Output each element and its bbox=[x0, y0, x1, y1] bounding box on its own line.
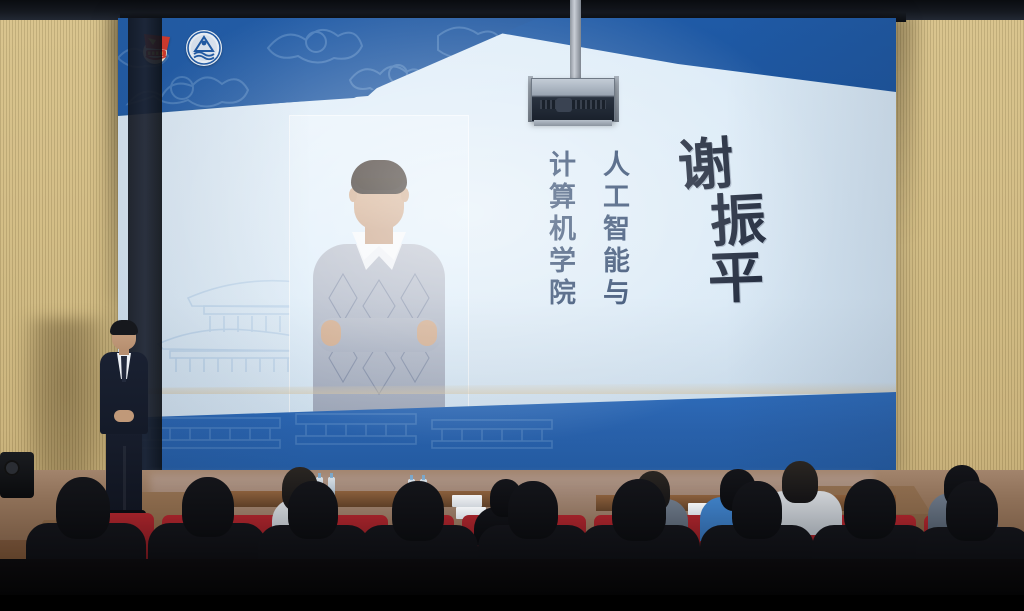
university-emblem-icon bbox=[186, 30, 222, 66]
projection-screen: 谢 振 平 人工智能与 计算机学院 bbox=[118, 18, 896, 480]
audience-head bbox=[288, 481, 338, 539]
speaker-portrait bbox=[290, 116, 468, 416]
presenter-hands bbox=[114, 410, 134, 422]
audience-head bbox=[844, 479, 896, 539]
presenter-tie bbox=[121, 356, 127, 382]
audience-head bbox=[508, 481, 558, 539]
auditorium-scene: 谢 振 平 人工智能与 计算机学院 bbox=[0, 0, 1024, 611]
projector-base-plate bbox=[534, 120, 612, 126]
speaker-name-calligraphy: 谢 振 平 bbox=[664, 136, 768, 307]
portrait-hair bbox=[351, 160, 407, 194]
portrait-hand-left bbox=[321, 320, 341, 346]
audience-head bbox=[946, 481, 998, 541]
audience-area bbox=[0, 461, 1024, 611]
letterbox-bottom bbox=[0, 595, 1024, 611]
audience-head bbox=[182, 477, 234, 537]
name-plate bbox=[452, 495, 482, 507]
audience-head bbox=[56, 477, 110, 539]
portrait-hand-right bbox=[417, 320, 437, 346]
audience-head bbox=[782, 461, 818, 503]
projector-lens bbox=[556, 98, 572, 112]
projector-mount-pole bbox=[570, 0, 581, 86]
audience-head bbox=[392, 481, 444, 541]
presenter-hair bbox=[110, 320, 138, 335]
audience-head bbox=[612, 479, 666, 541]
affiliation-line-1: 人工智能与 bbox=[596, 150, 629, 310]
name-char-2: 振 bbox=[709, 192, 770, 252]
affiliation-line-2: 计算机学院 bbox=[542, 150, 575, 310]
name-char-3: 平 bbox=[707, 249, 769, 308]
projector-vents bbox=[540, 100, 606, 109]
audience-head bbox=[732, 481, 782, 539]
